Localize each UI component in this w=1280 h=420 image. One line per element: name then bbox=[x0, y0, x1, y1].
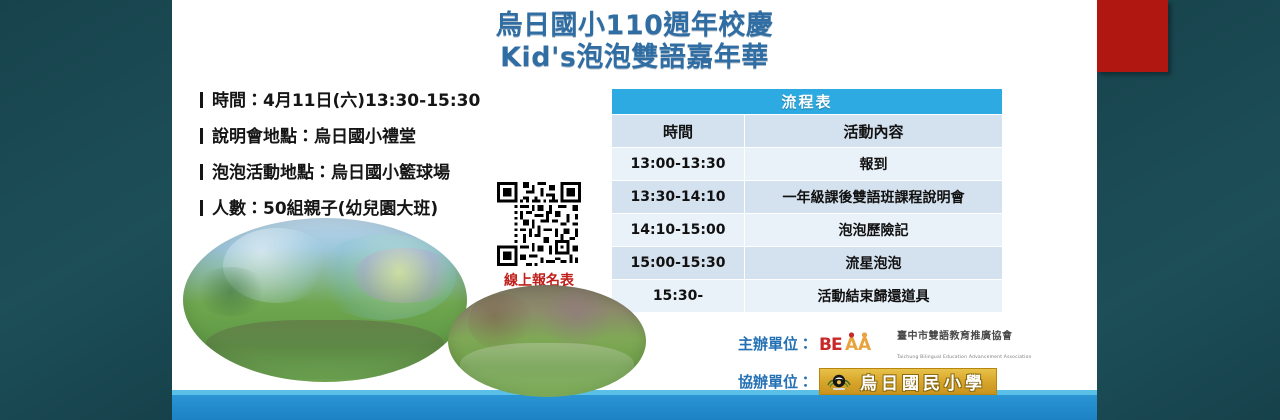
cell-time: 13:30-14:10 bbox=[612, 181, 745, 214]
bubble-festival-photo bbox=[183, 218, 467, 382]
table-row: 14:10-15:00 泡泡歷險記 bbox=[612, 214, 1003, 247]
list-item: 說明會地點：烏日國小禮堂 bbox=[200, 122, 530, 147]
bullet-bar-icon bbox=[200, 164, 203, 180]
beaa-name-zh: 臺中市雙語教育推廣協會 bbox=[897, 331, 1013, 342]
table-header-row: 時間 活動內容 bbox=[612, 115, 1003, 148]
cell-time: 15:30- bbox=[612, 280, 745, 313]
cell-time: 15:00-15:30 bbox=[612, 247, 745, 280]
cell-activity: 活動結束歸還道具 bbox=[745, 280, 1003, 313]
svg-text:A: A bbox=[858, 335, 872, 355]
schedule-table: 流程表 時間 活動內容 13:00-13:30 報到 13:30-14:10 一… bbox=[611, 88, 1003, 313]
table-title-row: 流程表 bbox=[612, 89, 1003, 115]
table-row: 15:30- 活動結束歸還道具 bbox=[612, 280, 1003, 313]
beaa-mark-icon: BE A A bbox=[819, 331, 891, 355]
svg-text:BE: BE bbox=[819, 335, 842, 355]
cell-time: 14:10-15:00 bbox=[612, 214, 745, 247]
bullet-bar-icon bbox=[200, 92, 203, 108]
cell-activity: 報到 bbox=[745, 148, 1003, 181]
cell-activity: 泡泡歷險記 bbox=[745, 214, 1003, 247]
schedule-title: 流程表 bbox=[612, 89, 1003, 115]
list-item: 人數：50組親子(幼兒園大班) bbox=[200, 194, 530, 219]
organizer-label: 主辦單位： bbox=[738, 333, 813, 354]
registration-qr-block[interactable]: 線上報名表 bbox=[497, 182, 581, 290]
column-header-activity: 活動內容 bbox=[745, 115, 1003, 148]
school-banner: 烏日國民小學 bbox=[819, 368, 997, 395]
school-emblem-icon bbox=[826, 371, 852, 393]
photo-detail bbox=[206, 320, 445, 379]
bullet-bar-icon bbox=[200, 200, 203, 216]
qr-code-icon[interactable] bbox=[497, 182, 581, 266]
table-row: 13:00-13:30 報到 bbox=[612, 148, 1003, 181]
svg-text:A: A bbox=[845, 335, 859, 355]
photo-detail bbox=[194, 267, 268, 316]
title-line-1: 烏日國小110週年校慶 bbox=[172, 10, 1097, 42]
cell-activity: 流星泡泡 bbox=[745, 247, 1003, 280]
title-line-2: Kid's泡泡雙語嘉年華 bbox=[172, 42, 1097, 74]
column-header-time: 時間 bbox=[612, 115, 745, 148]
photo-detail bbox=[353, 248, 455, 304]
coorganizer-label: 協辦單位： bbox=[738, 371, 813, 392]
left-side-panel bbox=[0, 0, 172, 420]
red-accent-square bbox=[1097, 0, 1168, 72]
table-row: 13:30-14:10 一年級課後雙語班課程說明會 bbox=[612, 181, 1003, 214]
info-item-text: 時間：4月11日(六)13:30-15:30 bbox=[212, 86, 480, 111]
cell-time: 13:00-13:30 bbox=[612, 148, 745, 181]
info-item-text: 泡泡活動地點：烏日國小籃球場 bbox=[212, 158, 450, 183]
list-item: 時間：4月11日(六)13:30-15:30 bbox=[200, 86, 530, 111]
bullet-bar-icon bbox=[200, 128, 203, 144]
children-playing-photo bbox=[448, 285, 646, 397]
coorganizer-row: 協辦單位： 烏日國民小學 bbox=[738, 368, 1088, 395]
school-name: 烏日國民小學 bbox=[860, 369, 986, 394]
sponsor-block: 主辦單位： BE A A 臺中市雙語教育推廣協會 Taichung Biling… bbox=[738, 324, 1088, 401]
beaa-text-lockup: 臺中市雙語教育推廣協會 Taichung Bilingual Education… bbox=[897, 324, 1032, 362]
beaa-logo: BE A A 臺中市雙語教育推廣協會 Taichung Bilingual Ed… bbox=[819, 324, 1032, 362]
event-info-list: 時間：4月11日(六)13:30-15:30 說明會地點：烏日國小禮堂 泡泡活動… bbox=[200, 86, 530, 230]
cell-activity: 一年級課後雙語班課程說明會 bbox=[745, 181, 1003, 214]
info-item-text: 人數：50組親子(幼兒園大班) bbox=[212, 194, 438, 219]
photo-detail bbox=[468, 294, 535, 350]
organizer-row: 主辦單位： BE A A 臺中市雙語教育推廣協會 Taichung Biling… bbox=[738, 324, 1088, 362]
poster-canvas: 烏日國小110週年校慶 Kid's泡泡雙語嘉年華 時間：4月11日(六)13:3… bbox=[0, 0, 1280, 420]
photo-detail bbox=[460, 343, 634, 392]
list-item: 泡泡活動地點：烏日國小籃球場 bbox=[200, 158, 530, 183]
page-title: 烏日國小110週年校慶 Kid's泡泡雙語嘉年華 bbox=[172, 10, 1097, 74]
table-row: 15:00-15:30 流星泡泡 bbox=[612, 247, 1003, 280]
info-item-text: 說明會地點：烏日國小禮堂 bbox=[212, 122, 416, 147]
beaa-name-en: Taichung Bilingual Education Advancement… bbox=[897, 355, 1032, 360]
